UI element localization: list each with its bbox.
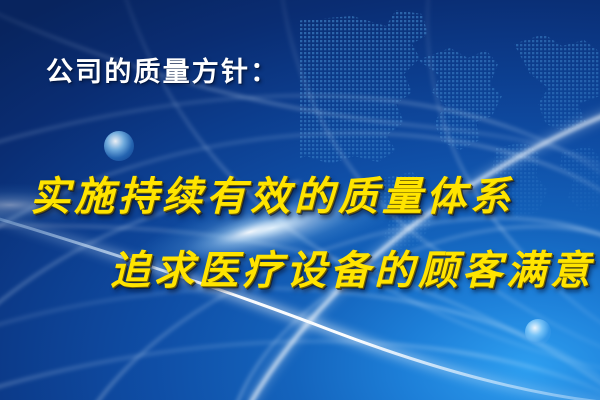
node-upper-left-icon [104, 131, 134, 161]
policy-line-1: 实施持续有效的质量体系 [30, 164, 514, 222]
quality-policy-slide: 公司的质量方针： 实施持续有效的质量体系 追求医疗设备的顾客满意 [0, 0, 600, 400]
policy-line-2: 追求医疗设备的顾客满意 [110, 238, 594, 296]
page-title: 公司的质量方针： [46, 50, 279, 89]
node-lower-right-icon [525, 319, 551, 345]
